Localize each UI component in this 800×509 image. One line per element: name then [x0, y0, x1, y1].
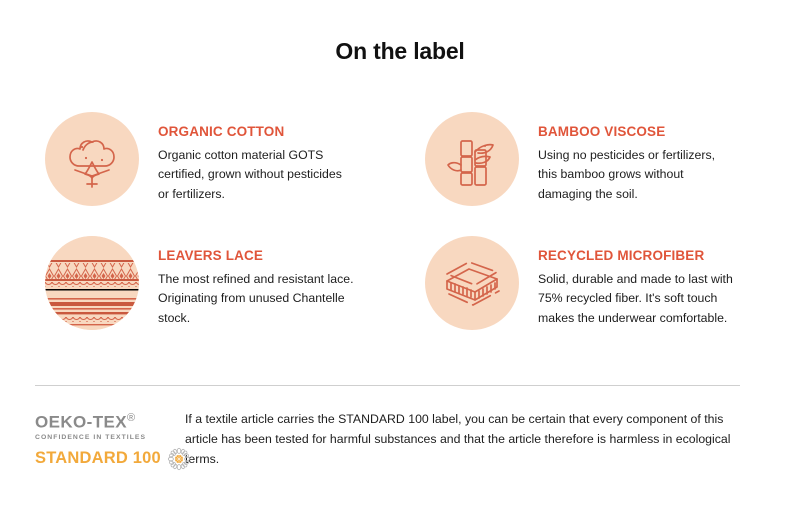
feature-title: ORGANIC COTTON: [158, 124, 354, 139]
feature-grid: ORGANIC COTTON Organic cotton material G…: [0, 112, 800, 330]
feature-description: Solid, durable and made to last with 75%…: [538, 270, 734, 328]
section-divider: [35, 385, 740, 386]
feature-card-bamboo-viscose: BAMBOO VISCOSE Using no pesticides or fe…: [425, 112, 800, 206]
feature-description: The most refined and resistant lace. Ori…: [158, 270, 354, 328]
feature-body: BAMBOO VISCOSE Using no pesticides or fe…: [538, 112, 734, 204]
feature-card-recycled-microfiber: RECYCLED MICROFIBER Solid, durable and m…: [425, 236, 800, 330]
fabric-layers-icon: [425, 236, 519, 330]
page-title: On the label: [0, 0, 800, 65]
oeko-tex-logo: OEKO-TEX® CONFIDENCE IN TEXTILES STANDAR…: [35, 405, 175, 473]
feature-title: LEAVERS LACE: [158, 248, 354, 263]
label-info-page: On the label: [0, 0, 800, 509]
feature-card-organic-cotton: ORGANIC COTTON Organic cotton material G…: [45, 112, 425, 206]
feature-body: RECYCLED MICROFIBER Solid, durable and m…: [538, 236, 734, 328]
registered-trademark-icon: ®: [127, 412, 136, 424]
sun-flower-emblem-icon: [165, 445, 193, 473]
cotton-boll-icon: [45, 112, 139, 206]
oeko-standard-row: STANDARD 100: [35, 445, 175, 473]
oeko-tex-tagline: CONFIDENCE IN TEXTILES: [35, 434, 175, 441]
oeko-standard-label: STANDARD 100: [35, 450, 161, 467]
feature-card-leavers-lace: LEAVERS LACE The most refined and resist…: [45, 236, 425, 330]
bamboo-stalks-icon: [425, 112, 519, 206]
feature-description: Using no pesticides or fertilizers, this…: [538, 146, 734, 204]
lace-pattern-icon: [45, 236, 139, 330]
feature-body: ORGANIC COTTON Organic cotton material G…: [158, 112, 354, 204]
feature-title: RECYCLED MICROFIBER: [538, 248, 734, 263]
feature-title: BAMBOO VISCOSE: [538, 124, 734, 139]
oeko-tex-description: If a textile article carries the STANDAR…: [175, 405, 745, 470]
feature-description: Organic cotton material GOTS certified, …: [158, 146, 354, 204]
oeko-tex-footer: OEKO-TEX® CONFIDENCE IN TEXTILES STANDAR…: [0, 405, 800, 473]
feature-body: LEAVERS LACE The most refined and resist…: [158, 236, 354, 328]
oeko-tex-wordmark: OEKO-TEX®: [35, 413, 175, 431]
oeko-tex-name: OEKO-TEX: [35, 413, 127, 432]
